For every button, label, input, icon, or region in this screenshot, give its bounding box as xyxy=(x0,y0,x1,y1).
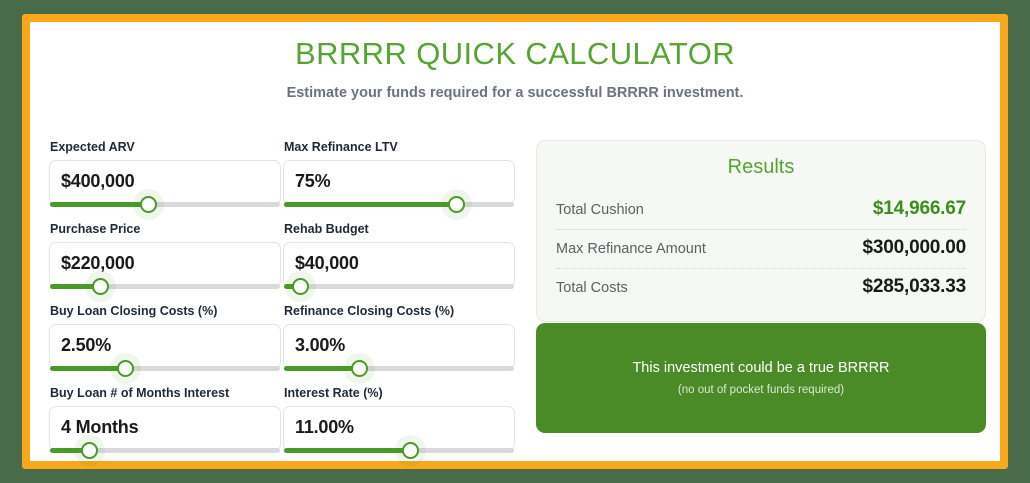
field-rehab-budget: Rehab Budget $40,000 xyxy=(283,222,515,287)
page-subtitle: Estimate your funds required for a succe… xyxy=(30,85,1000,102)
header: BRRRR QUICK CALCULATOR Estimate your fun… xyxy=(30,22,1000,102)
field-label: Interest Rate (%) xyxy=(284,386,515,401)
result-value: $14,966.67 xyxy=(873,198,966,221)
field-label: Rehab Budget xyxy=(284,222,515,237)
slider-refinance-closing-costs[interactable] xyxy=(284,365,514,371)
body-area: Expected ARV $400,000 Purchase Price $22… xyxy=(30,140,1000,461)
calculator-card: BRRRR QUICK CALCULATOR Estimate your fun… xyxy=(30,22,1000,461)
field-value: 4 Months xyxy=(50,407,280,439)
slider-fill xyxy=(284,366,360,371)
slider-purchase-price[interactable] xyxy=(50,283,280,289)
input-column-middle: Max Refinance LTV 75% Rehab Budget $40,0… xyxy=(283,140,515,451)
result-row-max-refinance-amount: Max Refinance Amount $300,000.00 xyxy=(556,229,966,268)
verdict-primary-text: This investment could be a true BRRRR xyxy=(632,359,889,377)
slider-fill xyxy=(50,202,149,207)
slider-expected-arv[interactable] xyxy=(50,201,280,207)
field-buy-loan-months-interest: Buy Loan # of Months Interest 4 Months xyxy=(49,386,281,451)
result-label: Total Costs xyxy=(556,280,628,297)
input-column-left: Expected ARV $400,000 Purchase Price $22… xyxy=(49,140,281,451)
slider-thumb[interactable] xyxy=(92,278,109,295)
field-label: Expected ARV xyxy=(50,140,281,155)
slider-interest-rate[interactable] xyxy=(284,447,514,453)
slider-buy-loan-months-interest[interactable] xyxy=(50,447,280,453)
field-purchase-price: Purchase Price $220,000 xyxy=(49,222,281,287)
result-label: Max Refinance Amount xyxy=(556,241,706,258)
field-interest-rate: Interest Rate (%) 11.00% xyxy=(283,386,515,451)
field-label: Refinance Closing Costs (%) xyxy=(284,304,515,319)
slider-thumb[interactable] xyxy=(402,442,419,459)
orange-frame: BRRRR QUICK CALCULATOR Estimate your fun… xyxy=(22,14,1008,469)
field-label: Buy Loan # of Months Interest xyxy=(50,386,281,401)
verdict-secondary-text: (no out of pocket funds required) xyxy=(678,383,844,397)
slider-fill xyxy=(284,202,457,207)
slider-thumb[interactable] xyxy=(140,196,157,213)
field-refinance-closing-costs: Refinance Closing Costs (%) 3.00% xyxy=(283,304,515,369)
result-value: $285,033.33 xyxy=(863,276,966,299)
result-label: Total Cushion xyxy=(556,202,644,219)
slider-thumb[interactable] xyxy=(81,442,98,459)
slider-thumb[interactable] xyxy=(117,360,134,377)
slider-thumb[interactable] xyxy=(351,360,368,377)
field-label: Buy Loan Closing Costs (%) xyxy=(50,304,281,319)
result-row-total-cushion: Total Cushion $14,966.67 xyxy=(556,191,966,229)
input-purchase-price[interactable]: $220,000 xyxy=(49,242,281,287)
results-panel: Results Total Cushion $14,966.67 Max Ref… xyxy=(536,140,986,322)
field-expected-arv: Expected ARV $400,000 xyxy=(49,140,281,205)
field-label: Max Refinance LTV xyxy=(284,140,515,155)
slider-fill xyxy=(50,366,126,371)
slider-fill xyxy=(284,448,411,453)
field-label: Purchase Price xyxy=(50,222,281,237)
input-rehab-budget[interactable]: $40,000 xyxy=(283,242,515,287)
field-value: $400,000 xyxy=(50,161,280,193)
slider-max-refinance-ltv[interactable] xyxy=(284,201,514,207)
field-value: 75% xyxy=(284,161,514,193)
field-max-refinance-ltv: Max Refinance LTV 75% xyxy=(283,140,515,205)
input-interest-rate[interactable]: 11.00% xyxy=(283,406,515,451)
results-title: Results xyxy=(556,155,966,179)
slider-thumb[interactable] xyxy=(448,196,465,213)
slider-thumb[interactable] xyxy=(292,278,309,295)
slider-track xyxy=(284,284,514,289)
field-value: 11.00% xyxy=(284,407,514,439)
input-expected-arv[interactable]: $400,000 xyxy=(49,160,281,205)
input-max-refinance-ltv[interactable]: 75% xyxy=(283,160,515,205)
input-refinance-closing-costs[interactable]: 3.00% xyxy=(283,324,515,369)
slider-buy-loan-closing-costs[interactable] xyxy=(50,365,280,371)
verdict-banner: This investment could be a true BRRRR (n… xyxy=(536,323,986,433)
result-row-total-costs: Total Costs $285,033.33 xyxy=(556,268,966,307)
result-value: $300,000.00 xyxy=(863,237,966,260)
field-value: $220,000 xyxy=(50,243,280,275)
input-buy-loan-months-interest[interactable]: 4 Months xyxy=(49,406,281,451)
page-title: BRRRR QUICK CALCULATOR xyxy=(30,36,1000,72)
slider-rehab-budget[interactable] xyxy=(284,283,514,289)
field-value: $40,000 xyxy=(284,243,514,275)
input-buy-loan-closing-costs[interactable]: 2.50% xyxy=(49,324,281,369)
field-value: 3.00% xyxy=(284,325,514,357)
field-value: 2.50% xyxy=(50,325,280,357)
field-buy-loan-closing-costs: Buy Loan Closing Costs (%) 2.50% xyxy=(49,304,281,369)
